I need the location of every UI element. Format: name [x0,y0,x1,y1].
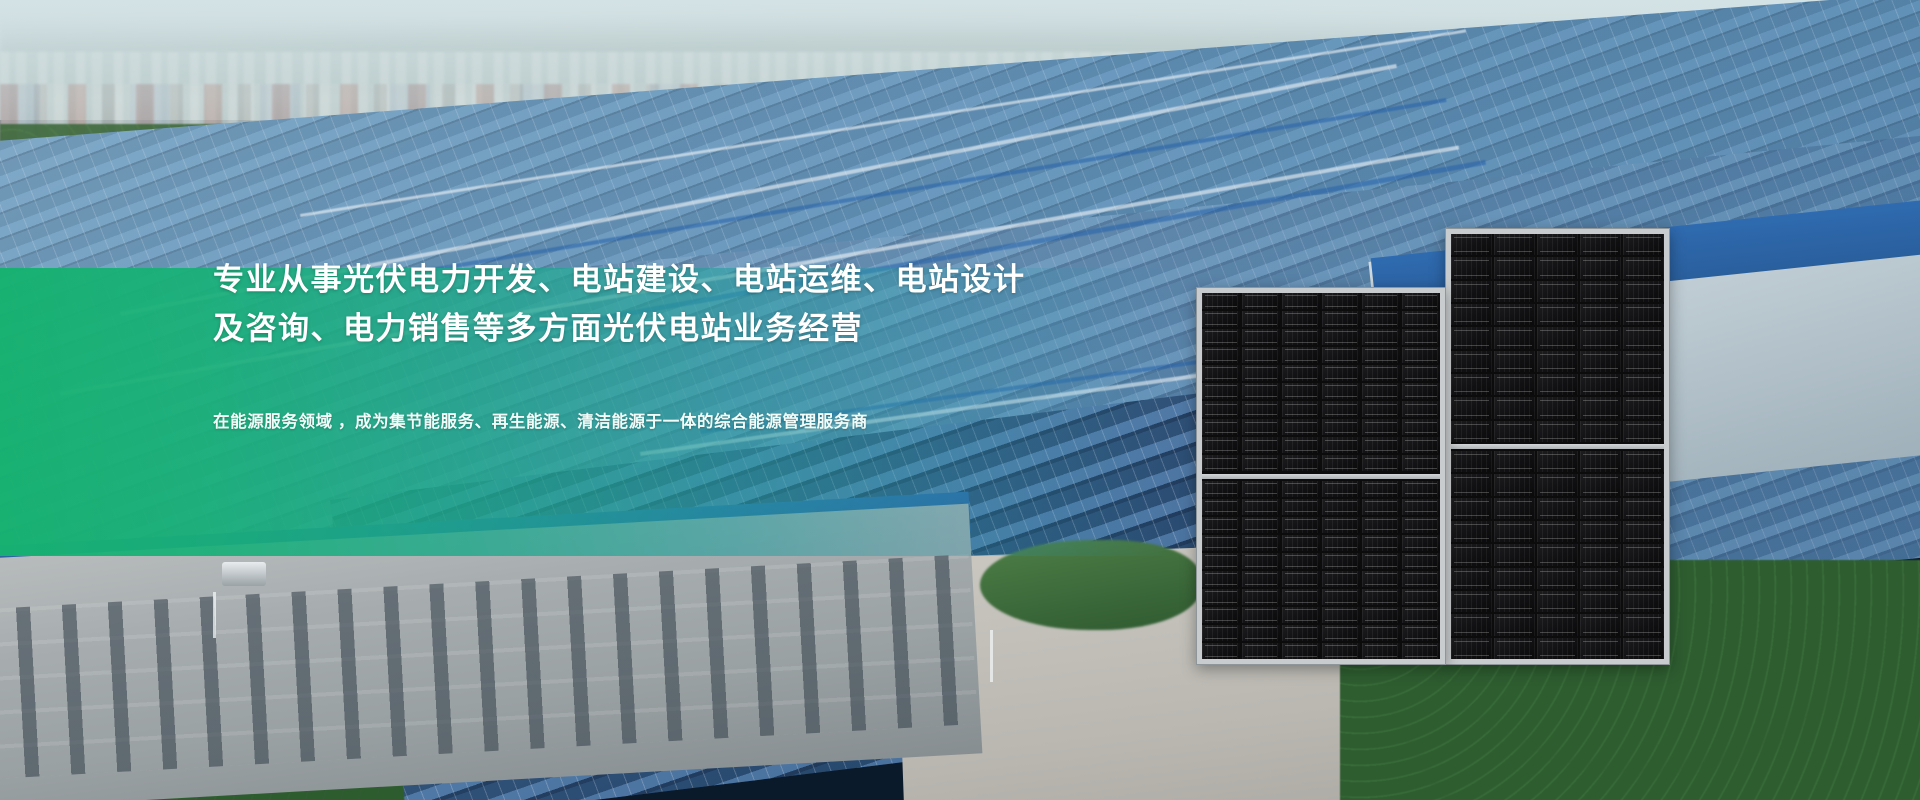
solar-cell [1537,614,1578,635]
solar-cell [1362,607,1400,623]
solar-cell [1362,625,1400,641]
panel-center-busbar [1451,444,1664,449]
solar-cell [1580,397,1621,418]
solar-cell [1537,281,1578,302]
solar-cell [1623,521,1664,542]
solar-cell [1494,451,1535,472]
solar-cell [1362,499,1400,515]
solar-panel-front-cells [1202,293,1440,659]
solar-cell [1537,374,1578,395]
solar-cell [1362,589,1400,605]
solar-cell [1322,517,1360,533]
solar-cell [1322,311,1360,327]
solar-cell [1451,351,1492,372]
solar-cell [1623,257,1664,278]
solar-cell [1494,591,1535,612]
solar-cell [1402,437,1440,453]
solar-cell [1623,374,1664,395]
headline-line-2: 及咨询、电力销售等多方面光伏电站业务经营 [213,304,1173,353]
solar-cell [1202,517,1240,533]
solar-cell [1322,365,1360,381]
solar-cell [1537,397,1578,418]
hero-banner: 专业从事光伏电力开发、电站建设、电站运维、电站设计 及咨询、电力销售等多方面光伏… [0,0,1920,800]
solar-cell [1362,419,1400,435]
solar-cell [1537,451,1578,472]
solar-panel-back-cells [1451,234,1664,659]
solar-cell [1402,643,1440,659]
solar-cell [1537,568,1578,589]
solar-cell [1322,419,1360,435]
solar-cell [1322,401,1360,417]
solar-cell [1623,397,1664,418]
solar-cell [1282,535,1320,551]
solar-cell [1402,499,1440,515]
solar-cell [1494,421,1535,442]
solar-cell [1322,347,1360,363]
solar-cell [1451,374,1492,395]
solar-cell [1282,553,1320,569]
solar-cell [1362,401,1400,417]
solar-cell [1362,553,1400,569]
panel-cell-block [1202,293,1440,472]
solar-cell [1451,591,1492,612]
solar-cell [1362,643,1400,659]
solar-cell [1494,498,1535,519]
solar-cell [1402,589,1440,605]
solar-cell [1580,498,1621,519]
solar-cell [1402,625,1440,641]
panel-cell-block [1451,234,1664,442]
solar-cell [1242,571,1280,587]
panel-cell-block [1202,481,1440,660]
solar-cell [1580,568,1621,589]
solar-cell [1451,234,1492,255]
solar-cell [1402,365,1440,381]
solar-cell [1322,643,1360,659]
solar-cell [1362,347,1400,363]
solar-cell [1580,304,1621,325]
solar-cell [1362,481,1400,497]
solar-cell [1322,553,1360,569]
solar-cell [1282,401,1320,417]
solar-cell [1537,521,1578,542]
solar-cell [1451,521,1492,542]
solar-cell [1322,383,1360,399]
solar-cell [1537,544,1578,565]
solar-cell [1282,589,1320,605]
solar-cell [1242,535,1280,551]
solar-cell [1580,374,1621,395]
solar-cell [1580,421,1621,442]
solar-cell [1623,351,1664,372]
solar-cell [1242,437,1280,453]
solar-cell [1282,437,1320,453]
solar-cell [1623,474,1664,495]
solar-cell [1242,499,1280,515]
solar-cell [1451,304,1492,325]
solar-cell [1202,455,1240,471]
solar-cell [1494,327,1535,348]
solar-cell [1242,643,1280,659]
solar-cell [1537,257,1578,278]
solar-cell [1202,481,1240,497]
banner-copy: 专业从事光伏电力开发、电站建设、电站运维、电站设计 及咨询、电力销售等多方面光伏… [213,255,1173,432]
solar-cell [1580,234,1621,255]
solar-cell [1242,311,1280,327]
street-lamp [213,592,216,638]
solar-cell [1580,614,1621,635]
solar-cell [1537,351,1578,372]
solar-cell [1242,329,1280,345]
solar-cell [1362,383,1400,399]
solar-cell [1451,397,1492,418]
solar-cell [1402,455,1440,471]
solar-cell [1580,281,1621,302]
solar-cell [1402,383,1440,399]
solar-cell [1202,643,1240,659]
solar-cell [1202,293,1240,309]
solar-cell [1580,351,1621,372]
solar-cell [1402,517,1440,533]
solar-cell [1494,614,1535,635]
solar-cell [1362,293,1400,309]
solar-cell [1537,498,1578,519]
solar-cell [1202,383,1240,399]
solar-cell [1362,311,1400,327]
solar-cell [1282,607,1320,623]
solar-cell [1282,311,1320,327]
solar-cell [1402,347,1440,363]
solar-cell [1580,474,1621,495]
solar-cell [1580,591,1621,612]
solar-cell [1202,625,1240,641]
solar-cell [1451,421,1492,442]
solar-cell [1451,451,1492,472]
solar-cell [1322,437,1360,453]
solar-cell [1282,365,1320,381]
solar-cell [1282,455,1320,471]
sub-headline: 在能源服务领域 ，成为集节能服务、再生能源、清洁能源于一体的综合能源管理服务商 [213,408,1173,432]
solar-cell [1242,401,1280,417]
solar-cell [1623,451,1664,472]
solar-cell [1623,281,1664,302]
solar-cell [1202,535,1240,551]
solar-cell [1242,419,1280,435]
solar-cell [1242,293,1280,309]
solar-cell [1242,455,1280,471]
solar-cell [1202,365,1240,381]
solar-cell [1362,437,1400,453]
solar-cell [1580,327,1621,348]
solar-cell [1242,589,1280,605]
solar-cell [1537,638,1578,659]
solar-cell [1402,571,1440,587]
solar-cell [1282,481,1320,497]
parked-van [222,562,266,586]
solar-cell [1494,374,1535,395]
solar-cell [1494,474,1535,495]
solar-cell [1451,568,1492,589]
solar-cell [1402,535,1440,551]
solar-cell [1451,474,1492,495]
solar-cell [1623,638,1664,659]
solar-panel-front [1196,287,1446,665]
solar-cell [1242,607,1280,623]
solar-cell [1282,625,1320,641]
solar-cell [1362,455,1400,471]
solar-cell [1202,553,1240,569]
solar-cell [1362,571,1400,587]
solar-cell [1580,544,1621,565]
solar-cell [1202,499,1240,515]
solar-cell [1202,311,1240,327]
solar-cell [1282,517,1320,533]
solar-cell [1494,544,1535,565]
solar-cell [1322,293,1360,309]
solar-cell [1623,591,1664,612]
solar-cell [1494,351,1535,372]
solar-cell [1282,571,1320,587]
solar-cell [1402,293,1440,309]
solar-cell [1322,625,1360,641]
solar-cell [1494,234,1535,255]
solar-cell [1322,571,1360,587]
solar-cell [1202,329,1240,345]
solar-cell [1322,455,1360,471]
solar-cell [1282,419,1320,435]
solar-cell [1202,589,1240,605]
solar-cell [1623,614,1664,635]
solar-cell [1451,498,1492,519]
solar-cell [1282,293,1320,309]
solar-cell [1322,329,1360,345]
solar-cell [1494,257,1535,278]
solar-cell [1451,544,1492,565]
solar-cell [1402,607,1440,623]
solar-cell [1623,568,1664,589]
solar-cell [1623,234,1664,255]
solar-cell [1402,311,1440,327]
solar-cell [1494,638,1535,659]
solar-cell [1580,257,1621,278]
solar-cell [1580,451,1621,472]
solar-cell [1494,521,1535,542]
solar-cell [1402,329,1440,345]
solar-cell [1623,498,1664,519]
solar-cell [1242,625,1280,641]
solar-cell [1623,421,1664,442]
solar-cell [1623,304,1664,325]
solar-cell [1402,553,1440,569]
solar-cell [1202,437,1240,453]
solar-cell [1537,474,1578,495]
solar-cell [1494,397,1535,418]
solar-cell [1322,535,1360,551]
solar-cell [1451,614,1492,635]
solar-cell [1451,281,1492,302]
solar-cell [1402,481,1440,497]
solar-cell [1362,365,1400,381]
solar-cell [1322,481,1360,497]
solar-cell [1402,401,1440,417]
solar-cell [1242,517,1280,533]
solar-cell [1537,591,1578,612]
solar-cell [1202,607,1240,623]
solar-cell [1362,535,1400,551]
solar-cell [1451,638,1492,659]
solar-cell [1242,365,1280,381]
solar-cell [1282,499,1320,515]
solar-cell [1402,419,1440,435]
solar-cell [1494,304,1535,325]
solar-cell [1242,347,1280,363]
solar-cell [1623,544,1664,565]
panel-cell-block [1451,451,1664,659]
solar-cell [1580,521,1621,542]
solar-cell [1282,383,1320,399]
solar-cell [1362,329,1400,345]
solar-cell [1282,329,1320,345]
street-lamp [990,630,993,682]
solar-cell [1322,589,1360,605]
solar-cell [1202,419,1240,435]
solar-cell [1322,607,1360,623]
solar-cell [1282,347,1320,363]
solar-cell [1494,568,1535,589]
solar-cell [1242,553,1280,569]
solar-cell [1202,571,1240,587]
solar-panel-back [1445,228,1670,665]
solar-cell [1494,281,1535,302]
solar-cell [1242,481,1280,497]
solar-cell [1537,421,1578,442]
solar-cell [1537,327,1578,348]
solar-cell [1362,517,1400,533]
solar-cell [1623,327,1664,348]
solar-cell [1537,304,1578,325]
solar-cell [1242,383,1280,399]
headline-line-1: 专业从事光伏电力开发、电站建设、电站运维、电站设计 [213,255,1173,304]
solar-cell [1580,638,1621,659]
solar-cell [1202,401,1240,417]
solar-cell [1451,327,1492,348]
solar-cell [1322,499,1360,515]
solar-cell [1282,643,1320,659]
solar-cell [1451,257,1492,278]
solar-cell [1537,234,1578,255]
panel-center-busbar [1202,474,1440,479]
solar-cell [1202,347,1240,363]
